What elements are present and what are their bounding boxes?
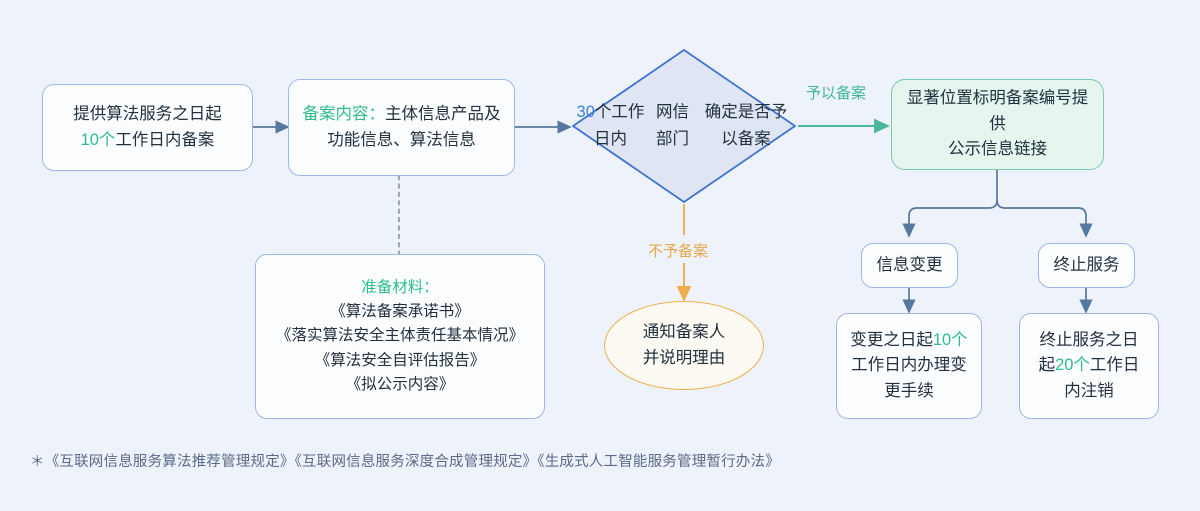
- text-line: 《落实算法安全主体责任基本情况》: [276, 324, 524, 348]
- text-run: 信息变更: [877, 256, 943, 274]
- terminate-service-box[interactable]: 终止服务: [1038, 243, 1135, 288]
- text-run: 网信部门: [656, 103, 689, 148]
- text-run: 10: [81, 131, 99, 149]
- text-run: 显著位置标明备案编号提供: [907, 89, 1089, 133]
- text-run: 提供算法服务之日起: [73, 105, 222, 123]
- footnote: ＊《互联网信息服务算法推荐管理规定》《互联网信息服务深度合成管理规定》《生成式人…: [30, 450, 780, 471]
- text-run: 终止服务之日: [1039, 331, 1138, 349]
- text-line: 30个工作日内: [573, 99, 648, 152]
- text-run: 个: [951, 331, 968, 349]
- text-run: 主体信息产品及: [385, 105, 501, 123]
- filing-content-box-text: 备案内容：主体信息产品及功能信息、算法信息: [291, 102, 513, 153]
- text-run: 更手续: [884, 382, 934, 400]
- text-line: 提供算法服务之日起: [73, 102, 222, 128]
- text-run: 工作日: [1090, 356, 1140, 374]
- decision-diamond[interactable]: 30个工作日内网信部门确定是否予以备案: [573, 50, 795, 202]
- start-box-text: 提供算法服务之日起10个工作日内备案: [61, 102, 234, 153]
- filing-content-box[interactable]: 备案内容：主体信息产品及功能信息、算法信息: [288, 79, 515, 176]
- edge-label-reject: 不予备案: [648, 240, 708, 261]
- text-run: 功能信息、算法信息: [327, 131, 476, 149]
- text-line: 备案内容：主体信息产品及: [303, 102, 501, 128]
- text-run: 准备材料：: [361, 279, 439, 296]
- text-line: 变更之日起10个: [850, 328, 967, 354]
- text-run: 工作日内备案: [115, 131, 214, 149]
- text-run: 《算法备案承诺书》: [330, 303, 470, 320]
- info-change-box[interactable]: 信息变更: [861, 243, 958, 288]
- change-procedure-box-text: 变更之日起10个工作日内办理变更手续: [838, 328, 979, 405]
- reject-oval[interactable]: 通知备案人并说明理由: [604, 301, 764, 390]
- flowchart-canvas: 提供算法服务之日起10个工作日内备案 备案内容：主体信息产品及功能信息、算法信息…: [0, 0, 1200, 511]
- publish-box-text: 显著位置标明备案编号提供公示信息链接: [892, 86, 1103, 163]
- text-line: 《算法备案承诺书》: [276, 300, 524, 324]
- text-run: 工作日内办理变: [851, 356, 967, 374]
- materials-box[interactable]: 准备材料：《算法备案承诺书》《落实算法安全主体责任基本情况》《算法安全自评估报告…: [255, 254, 545, 419]
- text-run: 内注销: [1064, 382, 1114, 400]
- materials-box-text: 准备材料：《算法备案承诺书》《落实算法安全主体责任基本情况》《算法安全自评估报告…: [264, 276, 536, 396]
- text-line: 更手续: [850, 379, 967, 405]
- edge-publish-branch-right: [997, 200, 1086, 236]
- text-run: 备案内容：: [303, 105, 386, 123]
- text-run: 20: [1055, 356, 1073, 374]
- reject-oval-text: 通知备案人并说明理由: [631, 320, 738, 371]
- text-run: 起: [1039, 356, 1056, 374]
- edge-label-approve: 予以备案: [806, 82, 866, 103]
- text-run: 30: [577, 103, 595, 121]
- text-line: 准备材料：: [276, 276, 524, 300]
- text-run: 个工作日内: [594, 103, 644, 148]
- text-line: 10个工作日内备案: [73, 128, 222, 154]
- text-line: 工作日内办理变: [850, 353, 967, 379]
- text-line: 公示信息链接: [904, 137, 1091, 163]
- text-line: 起20个工作日: [1039, 353, 1140, 379]
- text-run: 变更之日起: [850, 331, 933, 349]
- text-line: 功能信息、算法信息: [303, 128, 501, 154]
- terminate-service-box-text: 终止服务: [1042, 253, 1132, 279]
- text-line: 通知备案人: [643, 320, 726, 346]
- decision-diamond-text: 30个工作日内网信部门确定是否予以备案: [573, 50, 795, 202]
- cancel-procedure-box[interactable]: 终止服务之日起20个工作日内注销: [1019, 313, 1159, 419]
- text-line: 网信部门: [648, 99, 697, 152]
- text-run: 《算法安全自评估报告》: [315, 352, 486, 369]
- text-line: 内注销: [1039, 379, 1140, 405]
- text-run: 终止服务: [1054, 256, 1120, 274]
- text-run: 公示信息链接: [948, 140, 1047, 158]
- text-line: 《算法安全自评估报告》: [276, 349, 524, 373]
- text-line: 《拟公示内容》: [276, 373, 524, 397]
- text-line: 显著位置标明备案编号提供: [904, 86, 1091, 137]
- text-run: 10: [933, 331, 951, 349]
- text-line: 确定是否予以备案: [697, 99, 795, 152]
- text-run: 《拟公示内容》: [346, 376, 455, 393]
- info-change-box-text: 信息变更: [865, 253, 955, 279]
- text-line: 信息变更: [877, 253, 943, 279]
- text-run: 个: [1073, 356, 1090, 374]
- text-run: 个: [99, 131, 116, 149]
- change-procedure-box[interactable]: 变更之日起10个工作日内办理变更手续: [836, 313, 982, 419]
- text-line: 终止服务: [1054, 253, 1120, 279]
- text-line: 并说明理由: [643, 346, 726, 372]
- cancel-procedure-box-text: 终止服务之日起20个工作日内注销: [1027, 328, 1152, 405]
- text-run: 《落实算法安全主体责任基本情况》: [276, 327, 524, 344]
- text-run: 确定是否予以备案: [705, 103, 788, 148]
- publish-box[interactable]: 显著位置标明备案编号提供公示信息链接: [891, 79, 1104, 170]
- edge-publish-branch: [909, 170, 997, 236]
- start-box[interactable]: 提供算法服务之日起10个工作日内备案: [42, 84, 253, 171]
- text-run: 并说明理由: [643, 349, 726, 367]
- text-line: 终止服务之日: [1039, 328, 1140, 354]
- text-run: 通知备案人: [643, 323, 726, 341]
